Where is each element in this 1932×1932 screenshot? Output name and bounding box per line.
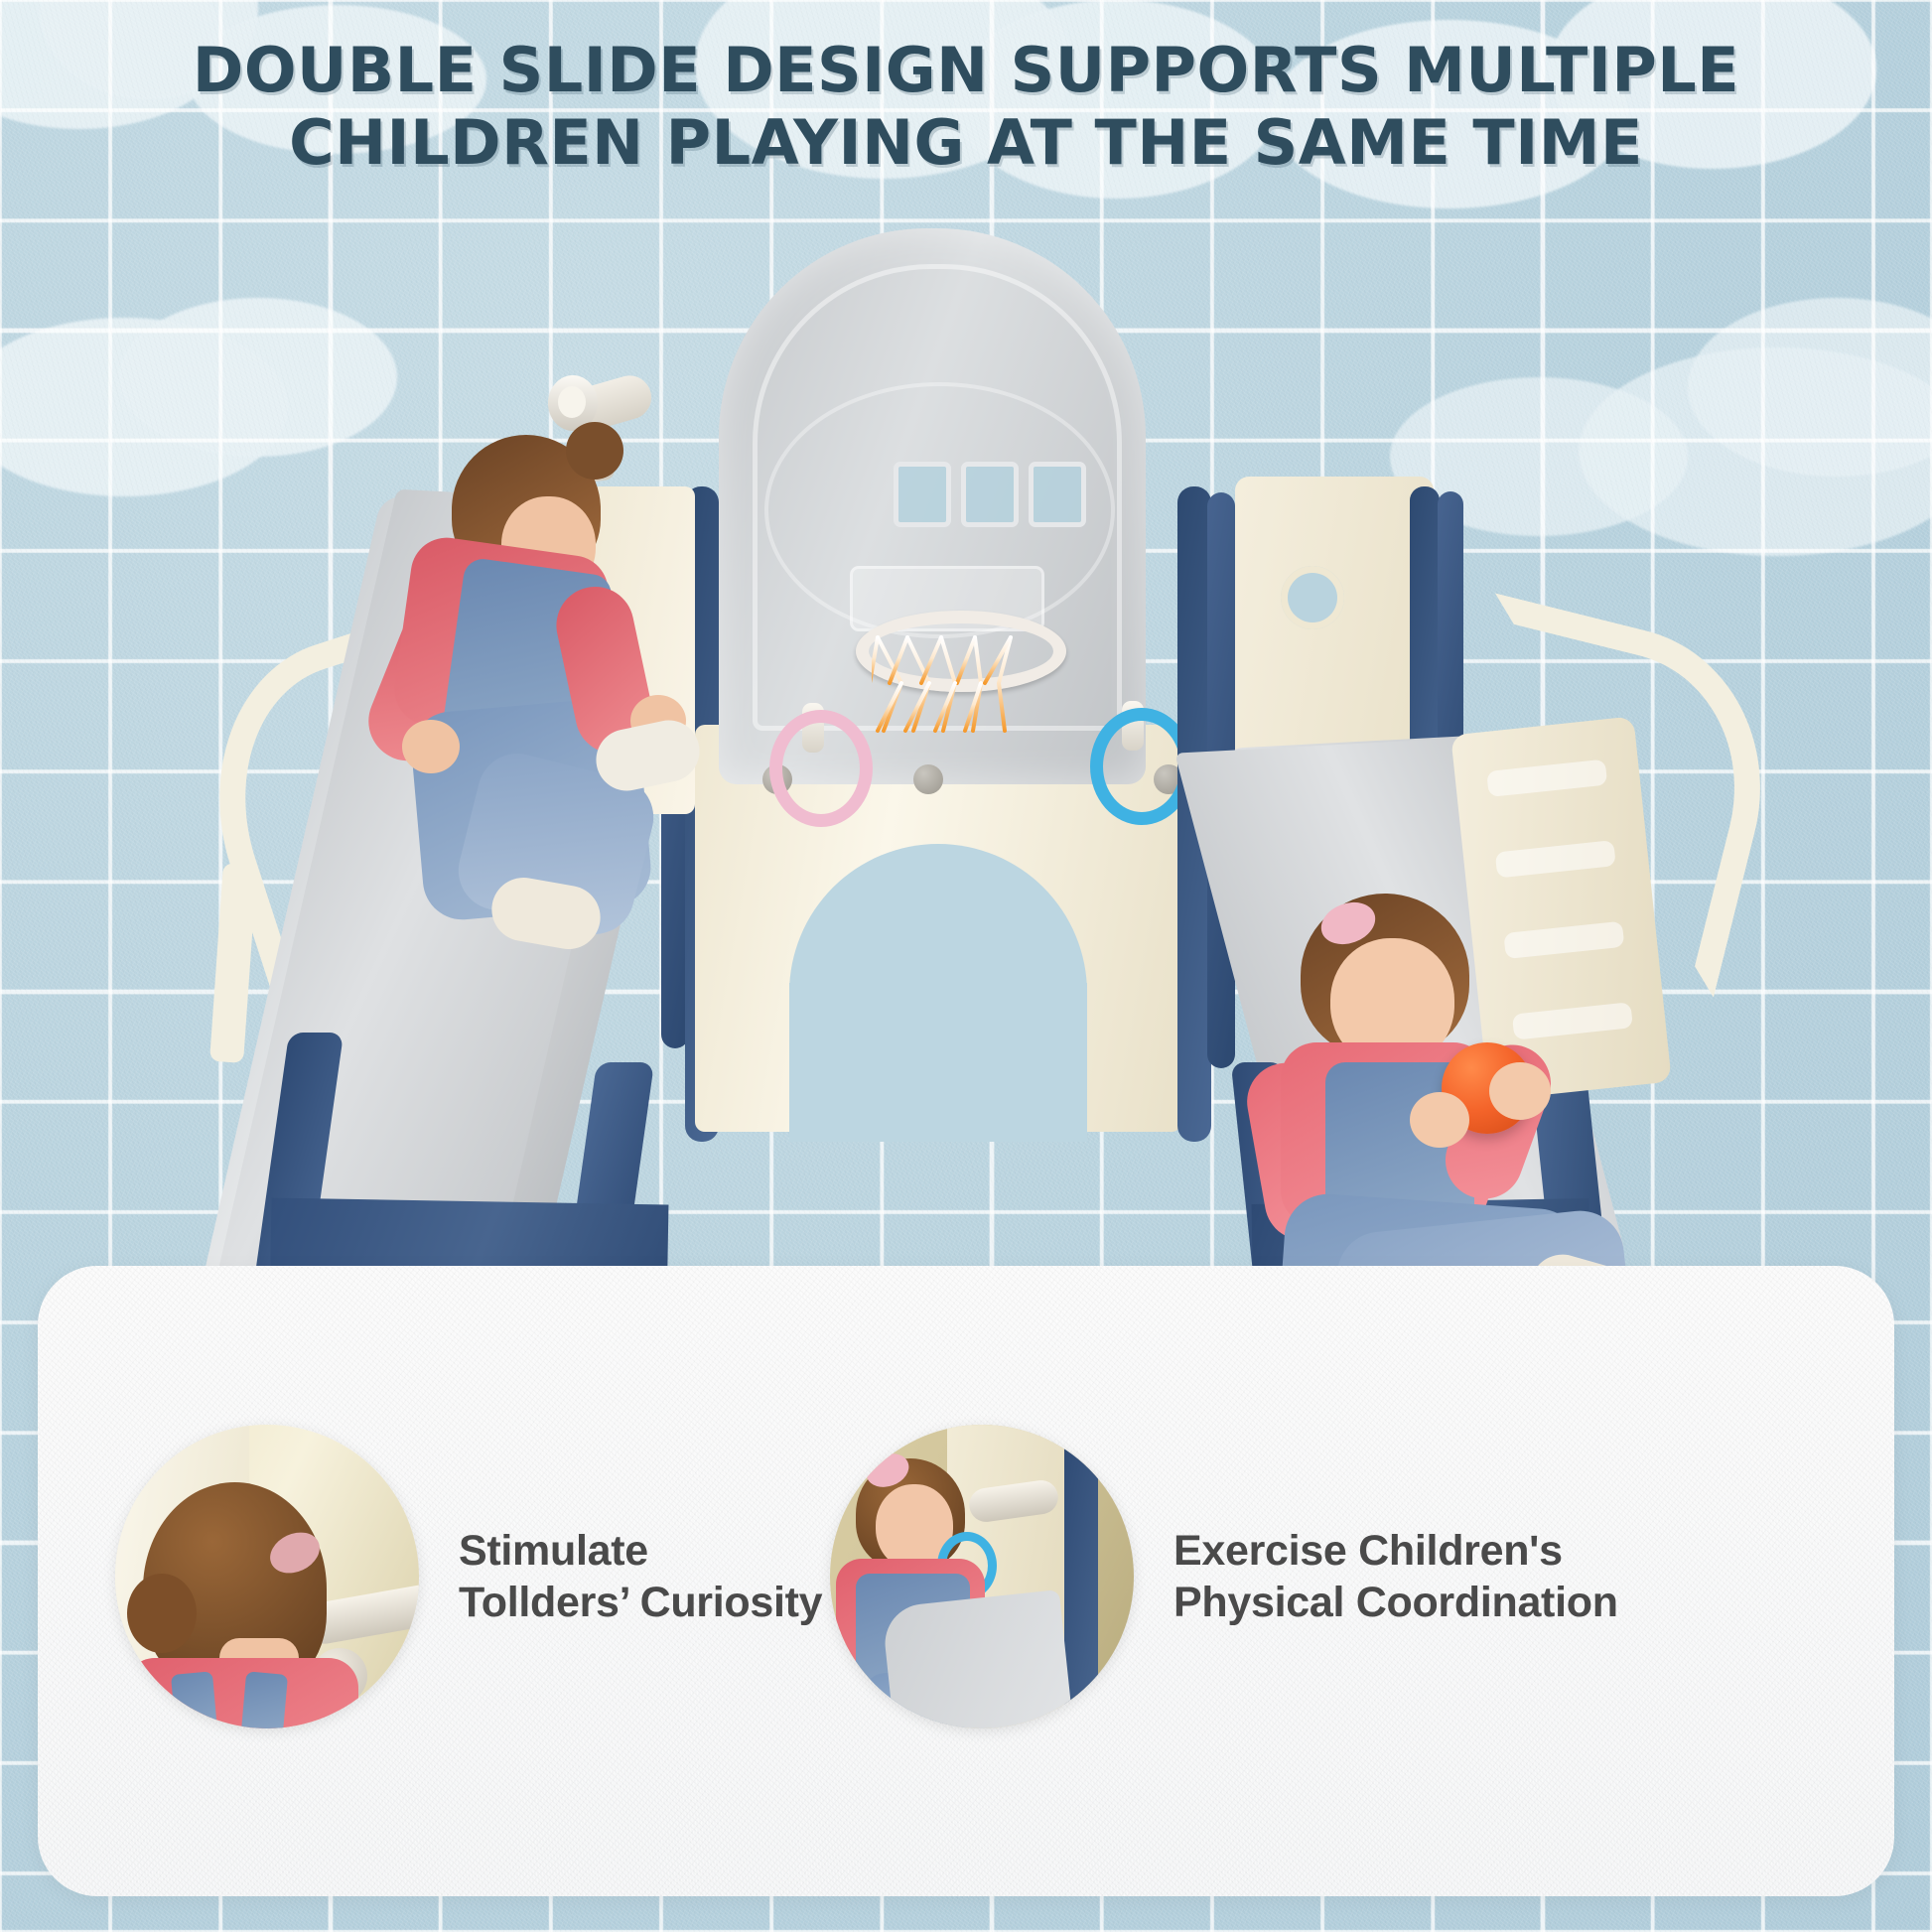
child-hand	[402, 720, 460, 773]
child-overall-strap	[238, 1671, 288, 1728]
child-hand	[1489, 1062, 1551, 1120]
headline-line-1: DOUBLE SLIDE DESIGN SUPPORTS MULTIPLE	[0, 34, 1932, 106]
child-hair-bun	[566, 422, 623, 480]
navy-post	[1064, 1425, 1098, 1728]
stairs-handrail-arc	[1413, 593, 1795, 997]
page-title: DOUBLE SLIDE DESIGN SUPPORTS MULTIPLE CH…	[0, 34, 1932, 179]
feature-caption-curiosity: Stimulate Tollders’ Curiosity	[459, 1525, 822, 1629]
stair-step	[1512, 1002, 1633, 1039]
arch-window	[894, 462, 951, 527]
child-hair-curl	[127, 1574, 197, 1653]
feature-coordination: Exercise Children's Physical Coordinatio…	[830, 1425, 1618, 1728]
feature-photo-climbing	[830, 1425, 1134, 1728]
slide-surface	[882, 1589, 1077, 1728]
product-photo-playset	[0, 169, 1932, 1291]
telescope-lens	[558, 386, 586, 418]
arch-window	[1029, 462, 1086, 527]
ring-mount-screw	[913, 764, 943, 794]
basketball-net	[872, 635, 1023, 755]
feature-curiosity: Stimulate Tollders’ Curiosity	[115, 1425, 822, 1728]
feature-caption-coordination: Exercise Children's Physical Coordinatio…	[1173, 1525, 1618, 1629]
promo-image-stage: DOUBLE SLIDE DESIGN SUPPORTS MULTIPLE CH…	[0, 0, 1932, 1932]
pink-ring-toy	[769, 710, 873, 827]
child-overall-strap	[171, 1671, 220, 1728]
porthole-opening	[1281, 566, 1344, 629]
child-hand	[1410, 1092, 1469, 1148]
feature-panel: Stimulate Tollders’ Curiosity Exercise C…	[38, 1266, 1894, 1896]
arch-window	[961, 462, 1019, 527]
arch-tunnel-opening	[789, 983, 1087, 1142]
feature-photo-telescope	[115, 1425, 419, 1728]
left-handrail-foot	[209, 863, 257, 1063]
